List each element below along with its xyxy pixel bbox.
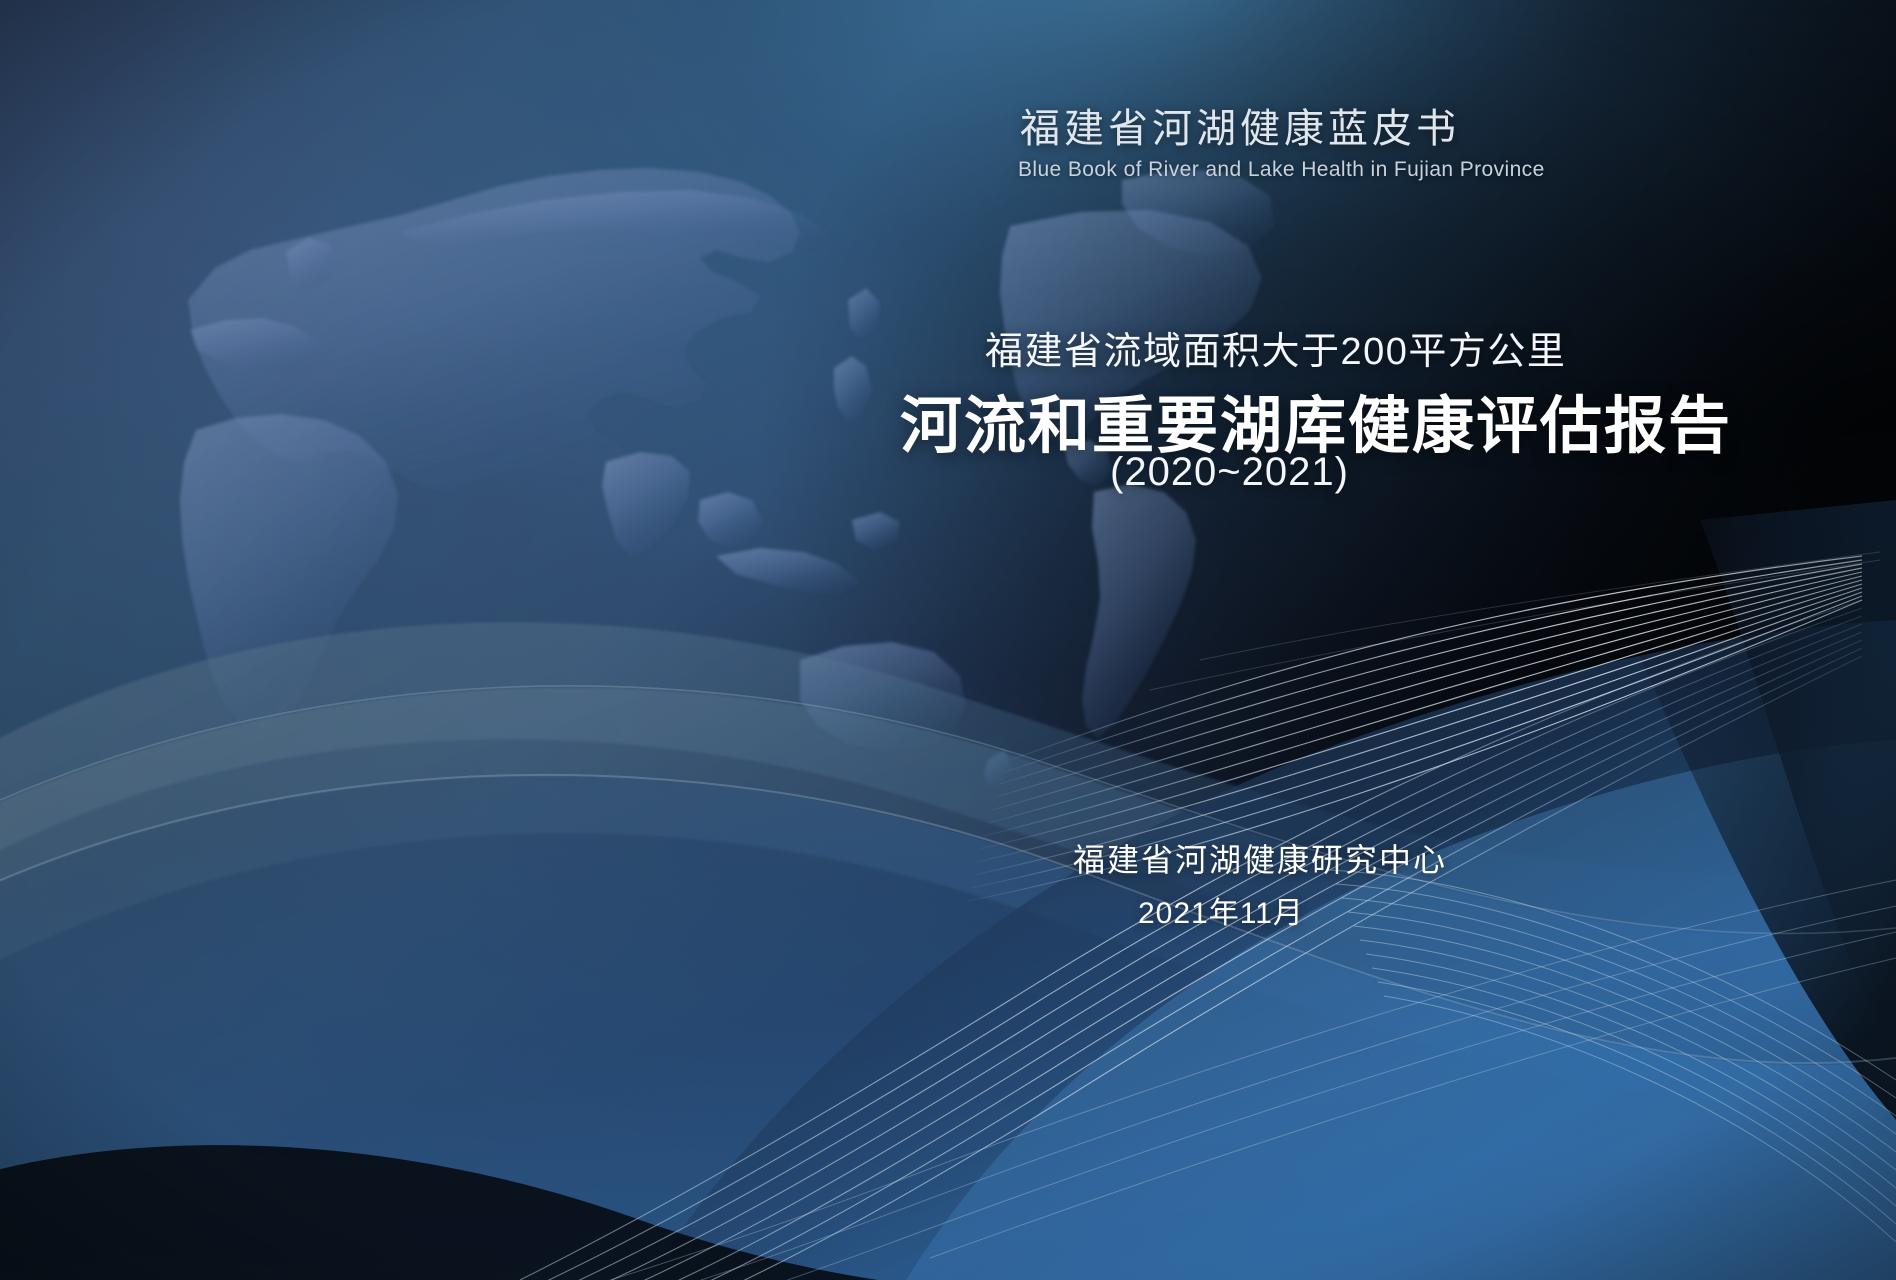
report-subtitle-cn: 福建省流域面积大于200平方公里 xyxy=(985,320,1566,375)
publishing-organization: 福建省河湖健康研究中心 xyxy=(1073,835,1447,881)
vignette-overlay xyxy=(0,0,1896,1280)
publication-date: 2021年11月 xyxy=(1138,888,1304,932)
report-period: (2020~2021) xyxy=(1110,450,1349,495)
report-cover: 福建省河湖健康蓝皮书 Blue Book of River and Lake H… xyxy=(0,0,1896,1280)
series-title-en: Blue Book of River and Lake Health in Fu… xyxy=(1018,158,1545,182)
series-title-cn: 福建省河湖健康蓝皮书 xyxy=(1020,96,1460,154)
